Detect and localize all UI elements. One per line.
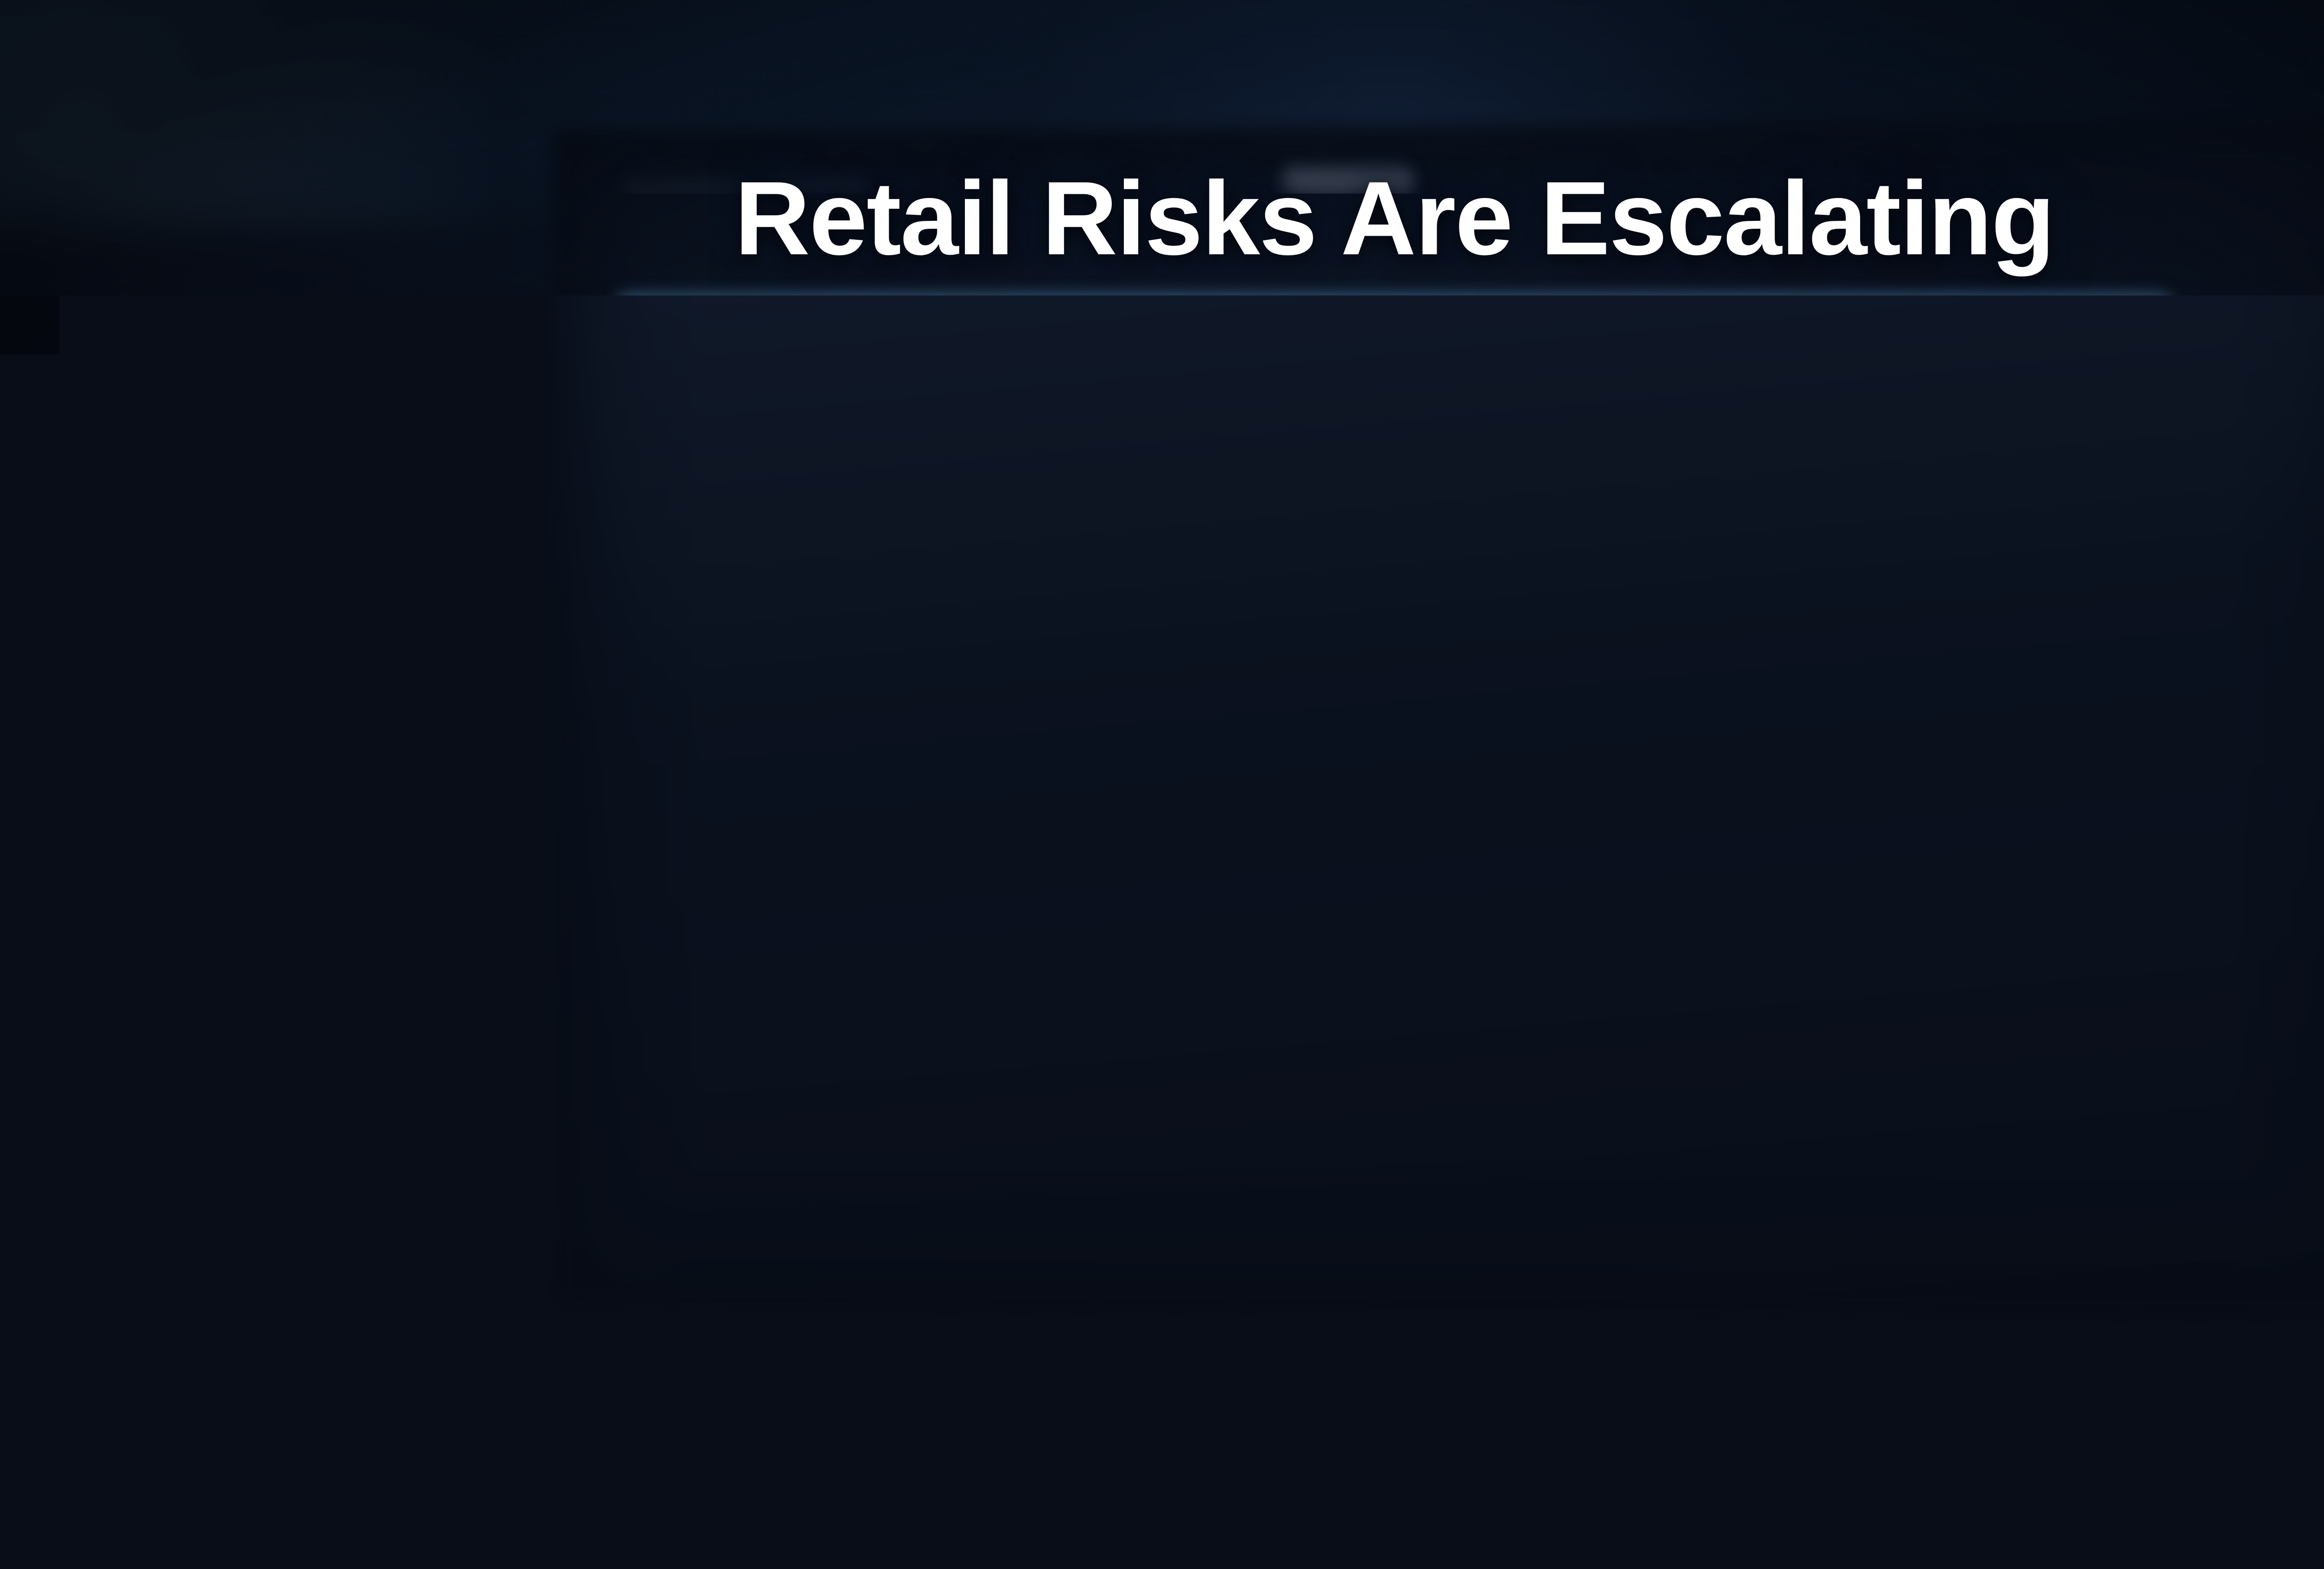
stat-label-shoplifting: Shoplifting [868, 868, 1130, 926]
page-title: Retail Risks Are Escalating [735, 158, 2054, 278]
slide-root: Retail Risks Are Escalating [0, 0, 2324, 1569]
stat-card-shoplifting: +18% Shoplifting [799, 404, 1199, 926]
tagline-line-1: Surveillance helps teams detect earlier [871, 1007, 1917, 1083]
stat-value-shoplifting: +18% [843, 715, 1156, 841]
stat-label-violence: Violence [1631, 868, 1836, 926]
stats-row: +18% Shoplifting [799, 404, 1989, 926]
thief-shoplifter-icon [799, 404, 1199, 702]
tagline: Surveillance helps teams detect earlier … [871, 1007, 1917, 1159]
title-divider [623, 301, 2166, 306]
stat-value-violence: +17% [1577, 715, 1890, 841]
slide-content: Retail Risks Are Escalating [0, 0, 2324, 1569]
stat-card-violence: +17% Violence [1478, 404, 1989, 926]
tagline-line-2: and respond faster. [871, 1083, 1917, 1158]
fist-lightning-violence-icon [1478, 404, 1989, 702]
